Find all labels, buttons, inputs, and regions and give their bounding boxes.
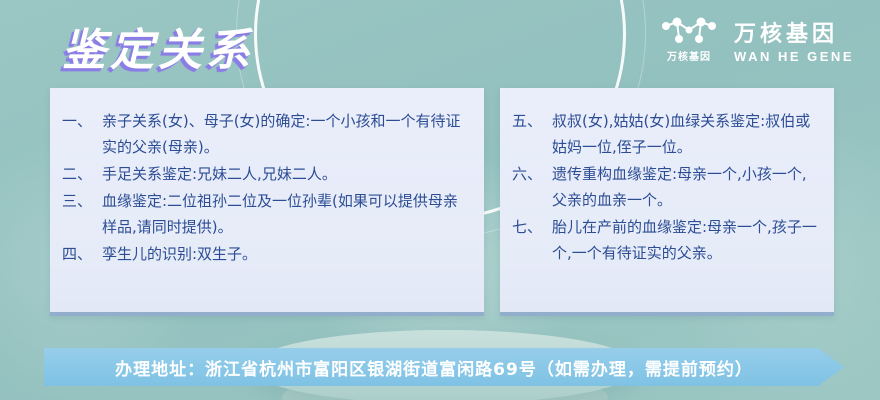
brand-name-cn: 万核基因 — [734, 16, 838, 48]
page-title: 鉴定关系 — [62, 14, 254, 78]
relationship-list-right: 五、 叔叔(女),姑姑(女)血绿关系鉴定:叔伯或姑妈一位,侄子一位。 六、 遗传… — [512, 108, 818, 266]
poster-root: 鉴定关系 — [0, 0, 880, 400]
list-item-index: 一、 — [62, 108, 102, 134]
list-item-index: 七、 — [512, 214, 552, 240]
card-left: 一、 亲子关系(女)、母子(女)的确定:一个小孩和一个有待证实的父亲(母亲)。 … — [50, 88, 484, 316]
list-item: 一、 亲子关系(女)、母子(女)的确定:一个小孩和一个有待证实的父亲(母亲)。 — [62, 108, 468, 160]
brand-wordmark: 万核基因 WAN HE GENE — [734, 16, 854, 64]
list-item: 二、 手足关系鉴定:兄妹二人,兄妹二人。 — [62, 161, 468, 187]
list-item-text: 叔叔(女),姑姑(女)血绿关系鉴定:叔伯或姑妈一位,侄子一位。 — [552, 108, 818, 160]
list-item-text: 遗传重构血缘鉴定:母亲一个,小孩一个,父亲的血亲一个。 — [552, 161, 818, 213]
molecule-network-icon — [660, 17, 718, 45]
list-item: 四、 孪生儿的识别:双生子。 — [62, 241, 468, 267]
list-item: 七、 胎儿在产前的血缘鉴定:母亲一个,孩子一个,一个有待证实的父亲。 — [512, 214, 818, 266]
list-item-text: 孪生儿的识别:双生子。 — [102, 241, 468, 267]
list-item-text: 血缘鉴定:二位祖孙二位及一位孙辈(如果可以提供母亲样品,请同时提供)。 — [102, 188, 468, 240]
list-item: 六、 遗传重构血缘鉴定:母亲一个,小孩一个,父亲的血亲一个。 — [512, 161, 818, 213]
address-text: 办理地址：浙江省杭州市富阳区银湖街道富闲路69号（如需办理，需提前预约） — [115, 355, 773, 380]
list-item-index: 六、 — [512, 161, 552, 187]
address-ribbon: 办理地址：浙江省杭州市富阳区银湖街道富闲路69号（如需办理，需提前预约） — [44, 348, 844, 386]
list-item-index: 二、 — [62, 161, 102, 187]
relationship-list-left: 一、 亲子关系(女)、母子(女)的确定:一个小孩和一个有待证实的父亲(母亲)。 … — [62, 108, 468, 267]
brand-mark-label: 万核基因 — [667, 48, 711, 63]
list-item-text: 手足关系鉴定:兄妹二人,兄妹二人。 — [102, 161, 468, 187]
content-cards: 一、 亲子关系(女)、母子(女)的确定:一个小孩和一个有待证实的父亲(母亲)。 … — [50, 88, 834, 316]
card-right: 五、 叔叔(女),姑姑(女)血绿关系鉴定:叔伯或姑妈一位,侄子一位。 六、 遗传… — [500, 88, 834, 316]
poster-header: 鉴定关系 — [0, 0, 880, 92]
brand-logo: 万核基因 万核基因 WAN HE GENE — [660, 16, 854, 64]
list-item-text: 胎儿在产前的血缘鉴定:母亲一个,孩子一个,一个有待证实的父亲。 — [552, 214, 818, 266]
list-item: 三、 血缘鉴定:二位祖孙二位及一位孙辈(如果可以提供母亲样品,请同时提供)。 — [62, 188, 468, 240]
brand-name-en: WAN HE GENE — [734, 49, 854, 64]
list-item-index: 五、 — [512, 108, 552, 134]
list-item-index: 三、 — [62, 188, 102, 214]
list-item-index: 四、 — [62, 241, 102, 267]
list-item: 五、 叔叔(女),姑姑(女)血绿关系鉴定:叔伯或姑妈一位,侄子一位。 — [512, 108, 818, 160]
list-item-text: 亲子关系(女)、母子(女)的确定:一个小孩和一个有待证实的父亲(母亲)。 — [102, 108, 468, 160]
brand-mark: 万核基因 — [660, 17, 718, 63]
